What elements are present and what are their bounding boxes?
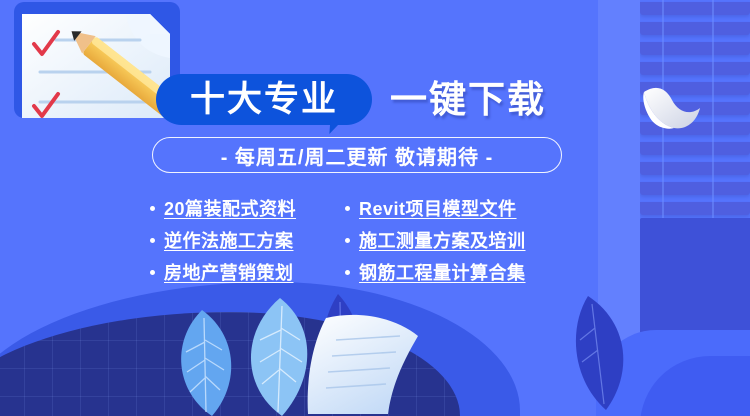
bullet-icon xyxy=(150,238,155,243)
promo-banner: 十大专业 一键下载 - 每周五/周二更新 敬请期待 - 20篇装配式资料 Rev… xyxy=(0,0,750,416)
title-row: 十大专业 一键下载 xyxy=(0,68,750,128)
link-label[interactable]: Revit项目模型文件 xyxy=(359,195,517,221)
link-label[interactable]: 钢筋工程量计算合集 xyxy=(359,259,526,285)
list-item[interactable]: 逆作法施工方案 xyxy=(150,227,345,253)
list-item[interactable]: 房地产营销策划 xyxy=(150,259,345,285)
subtitle-text: - 每周五/周二更新 敬请期待 - xyxy=(221,141,494,170)
bullet-icon xyxy=(345,270,350,275)
download-link-list: 20篇装配式资料 Revit项目模型文件 逆作法施工方案 施工测量方案及培训 房… xyxy=(150,192,580,288)
list-item[interactable]: 钢筋工程量计算合集 xyxy=(345,259,580,285)
bullet-icon xyxy=(345,206,350,211)
paper-sheet-icon xyxy=(300,310,430,416)
bullet-icon xyxy=(345,238,350,243)
leaf-dark-right-icon xyxy=(560,292,640,412)
subtitle-pill: - 每周五/周二更新 敬请期待 - xyxy=(152,137,562,173)
link-label[interactable]: 施工测量方案及培训 xyxy=(359,227,526,253)
title-badge-tail xyxy=(329,116,346,134)
bullet-icon xyxy=(150,206,155,211)
link-label[interactable]: 逆作法施工方案 xyxy=(164,227,294,253)
page-title: 一键下载 xyxy=(390,74,546,125)
list-item[interactable]: Revit项目模型文件 xyxy=(345,195,580,221)
list-item[interactable]: 施工测量方案及培训 xyxy=(345,227,580,253)
link-label[interactable]: 房地产营销策划 xyxy=(164,259,294,285)
list-item[interactable]: 20篇装配式资料 xyxy=(150,195,345,221)
link-label[interactable]: 20篇装配式资料 xyxy=(164,195,296,221)
title-badge-label: 十大专业 xyxy=(190,82,338,117)
bullet-icon xyxy=(150,270,155,275)
